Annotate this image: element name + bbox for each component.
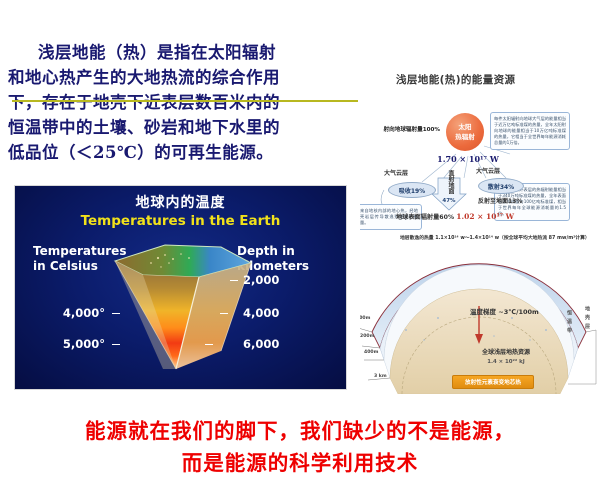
temperature-axis-label-line2: in Celsius bbox=[33, 259, 98, 273]
earth-figure-title-cn: 地球内的温度 bbox=[15, 192, 346, 212]
slogan-text: 能源就在我们的脚下，我们缺少的不是能源， 而是能源的科学利用技术 bbox=[0, 415, 600, 479]
sun-label-line2: 热辐射 bbox=[455, 132, 475, 142]
slogan-line-1: 能源就在我们的脚下，我们缺少的不是能源， bbox=[85, 419, 515, 443]
core-heat-badge: 放射性元素衰变地芯热 bbox=[452, 375, 534, 389]
slogan-line-2: 而是能源的科学利用技术 bbox=[0, 447, 600, 479]
intro-line-4: 恒温带中的土壤、砂岩和地下水里的 bbox=[8, 115, 366, 140]
scatter-tag: 散射34% bbox=[478, 178, 524, 194]
callout-solar-energy: 每件太阳辐射向地球大气层的能量相当于近万亿吨标准煤的热量，全年太阳射向地球的能量… bbox=[490, 112, 570, 150]
depth-tick-mark-6000 bbox=[205, 344, 213, 345]
temperature-tick-4000: 4,000° bbox=[45, 306, 105, 320]
depth-mark-100m: 100m bbox=[360, 316, 370, 321]
resource-label-text: 全球浅层地热资源 bbox=[482, 349, 530, 356]
intro-divider-rule bbox=[12, 100, 358, 102]
earth-cross-section-wedge bbox=[103, 241, 263, 381]
energy-resource-figure: 浅层地能(热)的能量资源 太阳 热辐射 1.70 × 10¹⁷ W 射向地球辐射… bbox=[360, 58, 598, 398]
surface-radiation-line: 地球表面辐射量60% 1.02 × 10¹⁷ W bbox=[396, 212, 514, 221]
direct-to-ground-label: 直射地面 bbox=[444, 170, 454, 194]
depth-tick-4000: 4,000 bbox=[243, 306, 303, 320]
temperature-tick-mark-5000 bbox=[112, 344, 120, 345]
intro-line-1: 浅层地能（热）是指在太阳辐射 bbox=[8, 40, 366, 65]
sun-energy-value: 1.70 × 10¹⁷ W bbox=[428, 154, 508, 164]
temperature-tick-mark-4000 bbox=[112, 313, 120, 314]
temperature-gradient-label: 温度梯度 ~3℃/100m bbox=[470, 306, 539, 316]
heat-escape-line: 地层散逸的热量 1.1×10¹⁴ w～1.4×10¹⁴ w（按全球平均大地热流 … bbox=[400, 234, 596, 241]
intro-line-3: 下，存在于地壳下近表层数百米内的 bbox=[8, 90, 366, 115]
absorption-tag: 吸收19% bbox=[388, 182, 436, 198]
depth-mark-400m: 400m bbox=[364, 350, 378, 355]
depth-tick-mark-2000 bbox=[230, 280, 238, 281]
global-shallow-geothermal-resource: 全球浅层地热资源 1.4 × 10²² kJ bbox=[456, 348, 556, 367]
cloud-label-left: 大气云层 bbox=[384, 168, 408, 177]
depth-tick-2000: 2,000 bbox=[243, 273, 303, 287]
intro-line-5: 低品位（＜25℃）的可再生能源。 bbox=[8, 140, 366, 165]
crust-svg bbox=[360, 244, 598, 394]
surface-radiation-text: 地球表面辐射量60% bbox=[396, 214, 454, 221]
depth-mark-3km: 3 km bbox=[374, 374, 387, 379]
earth-temperature-figure: 地球内的温度 Temperatures in the Earth Tempera… bbox=[14, 185, 347, 390]
temperature-tick-5000: 5,000° bbox=[45, 337, 105, 351]
intro-line-2: 和地心热产生的大地热流的综合作用 bbox=[8, 65, 366, 90]
resource-label-value: 1.4 × 10²² kJ bbox=[487, 359, 525, 365]
depth-mark-200m: 200m bbox=[360, 334, 374, 339]
surface-radiation-value: 1.02 × 10¹⁷ W bbox=[456, 212, 514, 221]
cloud-label-right: 大气云层 bbox=[476, 166, 500, 175]
earth-figure-title-en: Temperatures in the Earth bbox=[15, 213, 346, 229]
intro-paragraph: 浅层地能（热）是指在太阳辐射 和地心热产生的大地热流的综合作用 下，存在于地壳下… bbox=[8, 40, 366, 165]
reflect-to-ground-label: 反射至地面13% bbox=[478, 196, 522, 205]
sun-label-line1: 太阳 bbox=[459, 122, 472, 132]
direct-radiation-percent: 47% bbox=[432, 198, 466, 204]
side-label-crust: 地 壳 层 bbox=[584, 306, 591, 329]
sun-icon: 太阳 热辐射 bbox=[446, 113, 484, 151]
wedge-svg bbox=[103, 241, 263, 381]
side-label-constant-temp: 恒 温 带 bbox=[566, 310, 573, 333]
depth-tick-6000: 6,000 bbox=[243, 337, 303, 351]
earth-crust-cross-section bbox=[360, 244, 598, 394]
toward-earth-radiation-label: 射向地球辐射量100% bbox=[362, 126, 440, 134]
depth-tick-mark-4000 bbox=[220, 313, 228, 314]
